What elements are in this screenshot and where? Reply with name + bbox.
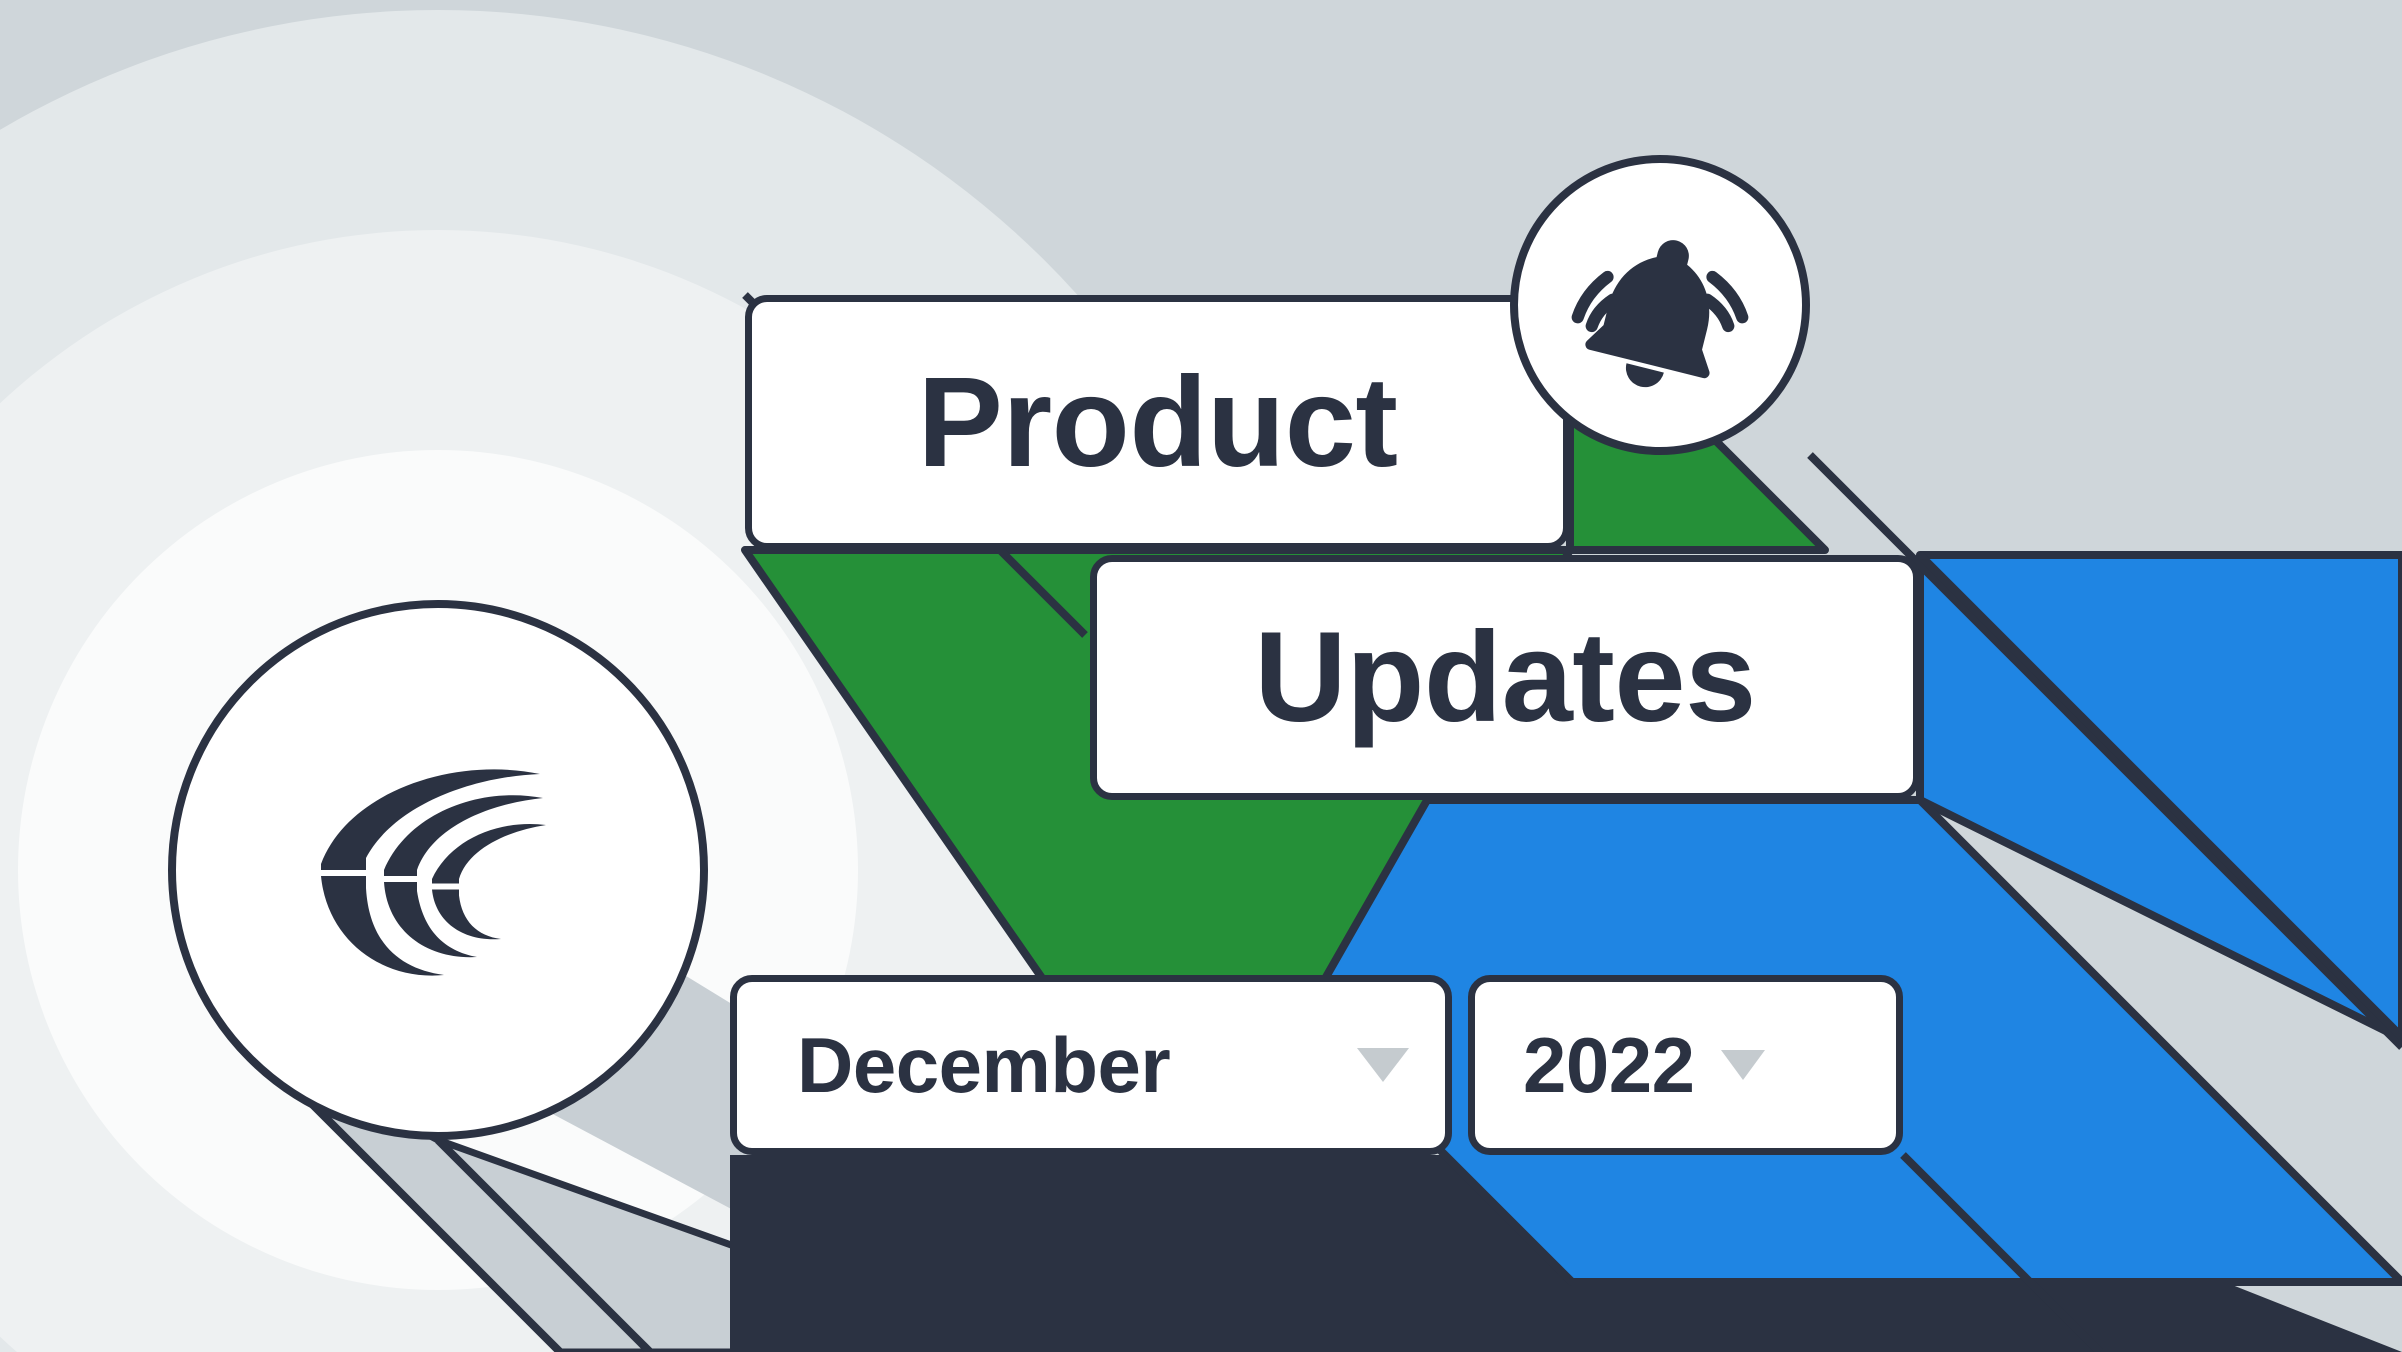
chevron-down-icon[interactable] [1721, 1050, 1765, 1080]
notification-bell-badge[interactable] [1510, 155, 1810, 455]
month-dropdown-label: December [797, 1026, 1170, 1104]
brand-logo-icon [288, 720, 588, 1020]
bell-wave-right-inner [1707, 300, 1728, 326]
notification-bell-icon [1555, 200, 1765, 410]
year-dropdown-label: 2022 [1523, 1026, 1695, 1104]
banner-canvas: Product Updates December 2022 [0, 0, 2402, 1352]
page-title-line-1: Product [917, 359, 1397, 487]
title-card-updates: Updates [1090, 555, 1920, 800]
logo-swoosh-3-top [432, 824, 546, 884]
logo-swoosh-3-bottom [432, 890, 501, 940]
page-title-line-2: Updates [1254, 614, 1756, 742]
year-dropdown[interactable]: 2022 [1468, 975, 1903, 1155]
month-dropdown[interactable]: December [730, 975, 1452, 1155]
bell-clapper [1622, 363, 1664, 391]
brand-logo-badge [168, 600, 708, 1140]
chevron-down-icon[interactable] [1357, 1048, 1409, 1082]
title-card-product: Product [745, 295, 1570, 550]
